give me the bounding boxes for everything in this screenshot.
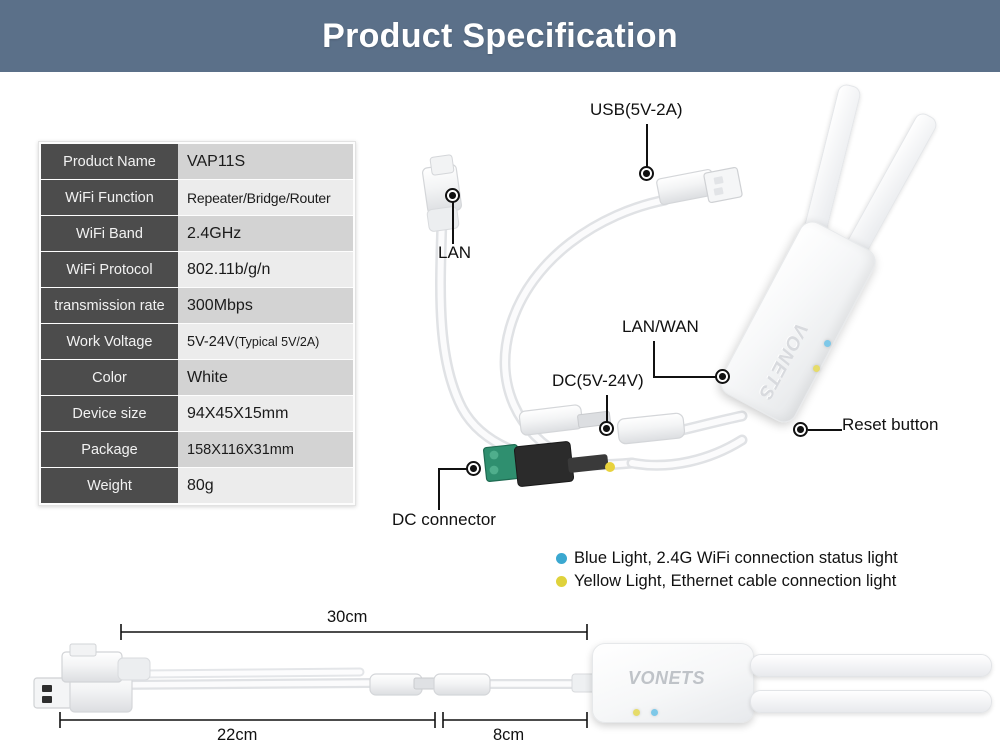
product-diagram: VONETS USB(5V-2A) LAN LAN/WAN DC(5V-24V)… bbox=[370, 78, 1000, 538]
callout-label-lan: LAN bbox=[438, 243, 471, 263]
spec-value: 5V-24V(Typical 5V/2A) bbox=[178, 324, 353, 359]
spec-label: transmission rate bbox=[41, 288, 178, 323]
table-row: WiFi Function Repeater/Bridge/Router bbox=[41, 180, 353, 215]
callout-line-usb bbox=[646, 124, 648, 168]
table-row: Work Voltage 5V-24V(Typical 5V/2A) bbox=[41, 324, 353, 359]
dc-barrel-joint-bottom bbox=[370, 674, 490, 695]
spec-label: WiFi Function bbox=[41, 180, 178, 215]
led-yellow-indicator bbox=[813, 365, 820, 372]
callout-dot-reset bbox=[793, 422, 808, 437]
table-row: Device size 94X45X15mm bbox=[41, 396, 353, 431]
spec-label: Package bbox=[41, 432, 178, 467]
product-specification-page: Product Specification Product Name VAP11… bbox=[0, 0, 1000, 748]
spec-value-note: (Typical 5V/2A) bbox=[235, 335, 320, 349]
antenna-bottom-bottom-view bbox=[750, 690, 992, 713]
spec-label: WiFi Band bbox=[41, 216, 178, 251]
legend-text: Blue Light, 2.4G WiFi connection status … bbox=[574, 549, 898, 568]
callout-line-reset bbox=[808, 429, 842, 431]
dc-barrel-connector bbox=[519, 404, 611, 435]
spec-value: Repeater/Bridge/Router bbox=[178, 180, 353, 215]
antenna-top-bottom-view bbox=[750, 654, 992, 677]
led-blue-indicator bbox=[824, 340, 831, 347]
callout-label-lan-wan: LAN/WAN bbox=[622, 317, 699, 337]
device-logo-bottom: VONETS bbox=[628, 668, 705, 689]
callout-dot-dc-connector bbox=[466, 461, 481, 476]
specification-table: Product Name VAP11S WiFi Function Repeat… bbox=[38, 141, 356, 506]
spec-label: Weight bbox=[41, 468, 178, 503]
spec-value: 802.11b/g/n bbox=[178, 252, 353, 287]
dc-female-connector bbox=[617, 413, 685, 445]
table-row: transmission rate 300Mbps bbox=[41, 288, 353, 323]
spec-label: Product Name bbox=[41, 144, 178, 179]
callout-line-dc-connector-vertical bbox=[438, 468, 440, 510]
spec-label: WiFi Protocol bbox=[41, 252, 178, 287]
callout-line-lan-wan-vertical bbox=[653, 341, 655, 377]
spec-value: 94X45X15mm bbox=[178, 396, 353, 431]
led-yellow-indicator-bottom bbox=[633, 709, 640, 716]
callout-dot-usb bbox=[639, 166, 654, 181]
legend-bullet-yellow-icon bbox=[556, 576, 567, 587]
legend-item-blue: Blue Light, 2.4G WiFi connection status … bbox=[556, 549, 898, 568]
table-row: Product Name VAP11S bbox=[41, 144, 353, 179]
callout-dot-lan-wan bbox=[715, 369, 730, 384]
spec-value: 2.4GHz bbox=[178, 216, 353, 251]
usb-connector bbox=[656, 167, 743, 205]
spec-label: Work Voltage bbox=[41, 324, 178, 359]
spec-value: VAP11S bbox=[178, 144, 353, 179]
rj45-connector-bottom bbox=[62, 644, 150, 682]
table-row: Weight 80g bbox=[41, 468, 353, 503]
callout-line-dc-connector-horizontal bbox=[438, 468, 468, 470]
spec-value-main: 5V-24V bbox=[187, 334, 235, 350]
callout-label-dc-connector: DC connector bbox=[392, 510, 496, 530]
dc-screw-terminal bbox=[483, 441, 615, 487]
callout-label-dc: DC(5V-24V) bbox=[552, 371, 644, 391]
table-row: WiFi Band 2.4GHz bbox=[41, 216, 353, 251]
callout-label-reset: Reset button bbox=[842, 415, 938, 435]
spec-value: 300Mbps bbox=[178, 288, 353, 323]
page-header: Product Specification bbox=[0, 0, 1000, 72]
spec-label: Device size bbox=[41, 396, 178, 431]
callout-line-lan bbox=[452, 202, 454, 244]
callout-label-usb: USB(5V-2A) bbox=[590, 100, 683, 120]
table-row: Package 158X116X31mm bbox=[41, 432, 353, 467]
legend-item-yellow: Yellow Light, Ethernet cable connection … bbox=[556, 572, 898, 591]
dimension-label-cable: 22cm bbox=[217, 726, 257, 745]
spec-label: Color bbox=[41, 360, 178, 395]
table-row: Color White bbox=[41, 360, 353, 395]
spec-value: White bbox=[178, 360, 353, 395]
table-row: WiFi Protocol 802.11b/g/n bbox=[41, 252, 353, 287]
page-title: Product Specification bbox=[322, 17, 678, 56]
legend-bullet-blue-icon bbox=[556, 553, 567, 564]
callout-dot-dc bbox=[599, 421, 614, 436]
callout-line-lan-wan-horizontal bbox=[653, 376, 718, 378]
led-blue-indicator-bottom bbox=[651, 709, 658, 716]
legend-text: Yellow Light, Ethernet cable connection … bbox=[574, 572, 896, 591]
callout-line-dc bbox=[606, 395, 608, 423]
spec-value: 158X116X31mm bbox=[178, 432, 353, 467]
callout-dot-lan bbox=[445, 188, 460, 203]
dimension-label-total: 30cm bbox=[327, 608, 367, 627]
spec-value: 80g bbox=[178, 468, 353, 503]
dimension-label-device: 8cm bbox=[493, 726, 524, 745]
led-legend: Blue Light, 2.4G WiFi connection status … bbox=[556, 549, 898, 595]
